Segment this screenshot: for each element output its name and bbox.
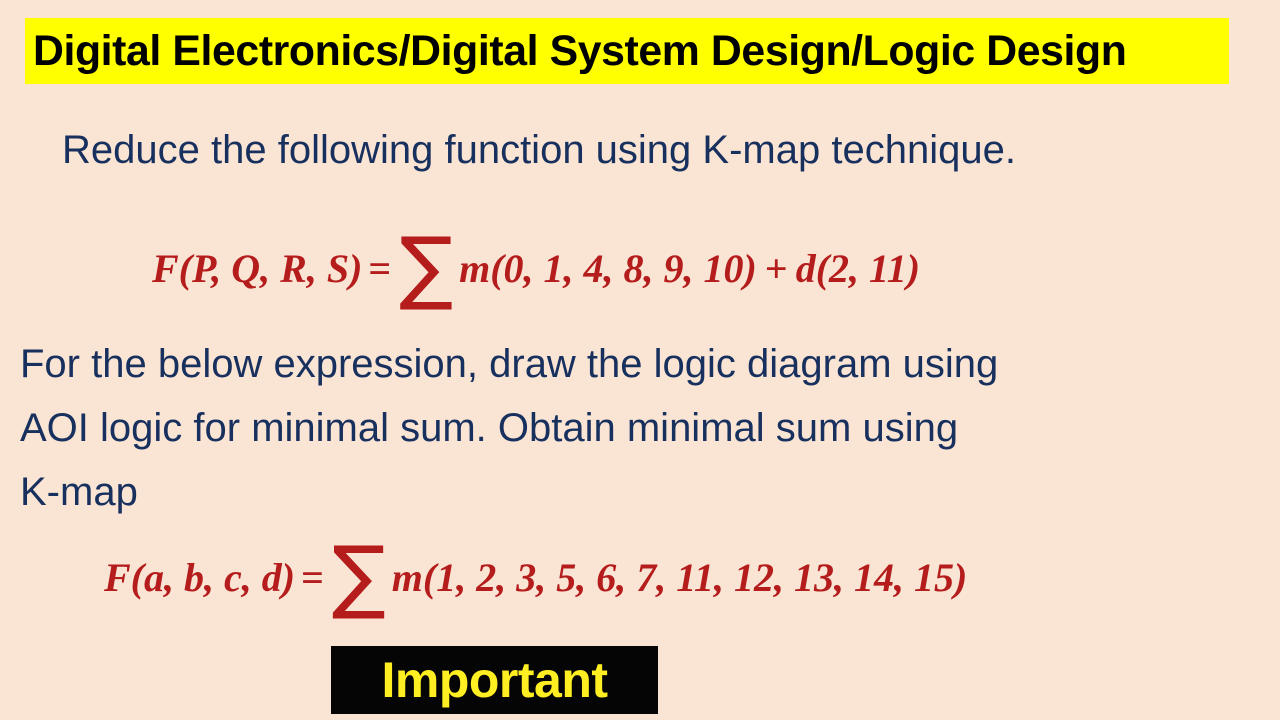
formula-one-equals: = xyxy=(362,245,393,292)
formula-one: F(P, Q, R, S) = ∑ m(0, 1, 4, 8, 9, 10) +… xyxy=(152,228,920,308)
formula-one-lhs: F(P, Q, R, S) xyxy=(152,245,362,292)
important-badge-label: Important xyxy=(381,655,607,705)
formula-two-equals: = xyxy=(295,554,326,601)
title-highlight-banner: Digital Electronics/Digital System Desig… xyxy=(25,18,1229,84)
instruction-line-1: For the below expression, draw the logic… xyxy=(20,332,1260,396)
important-badge: Important xyxy=(331,646,658,714)
formula-two-lhs: F(a, b, c, d) xyxy=(104,554,295,601)
instruction-line-3: K-map xyxy=(20,460,1260,524)
formula-one-minterms: m(0, 1, 4, 8, 9, 10) xyxy=(459,245,757,292)
formula-two: F(a, b, c, d) = ∑ m(1, 2, 3, 5, 6, 7, 11… xyxy=(104,537,967,617)
instruction-line-2: AOI logic for minimal sum. Obtain minima… xyxy=(20,396,1260,460)
instruction-paragraph: For the below expression, draw the logic… xyxy=(20,332,1260,524)
formula-one-plus: + xyxy=(757,245,796,292)
slide-canvas: Digital Electronics/Digital System Desig… xyxy=(0,0,1280,720)
formula-two-minterms: m(1, 2, 3, 5, 6, 7, 11, 12, 13, 14, 15) xyxy=(392,554,968,601)
page-title: Digital Electronics/Digital System Desig… xyxy=(25,30,1127,73)
question-prompt: Reduce the following function using K-ma… xyxy=(62,128,1262,173)
formula-one-dontcares: d(2, 11) xyxy=(796,245,920,292)
summation-icon: ∑ xyxy=(326,548,392,604)
summation-icon: ∑ xyxy=(393,239,459,295)
